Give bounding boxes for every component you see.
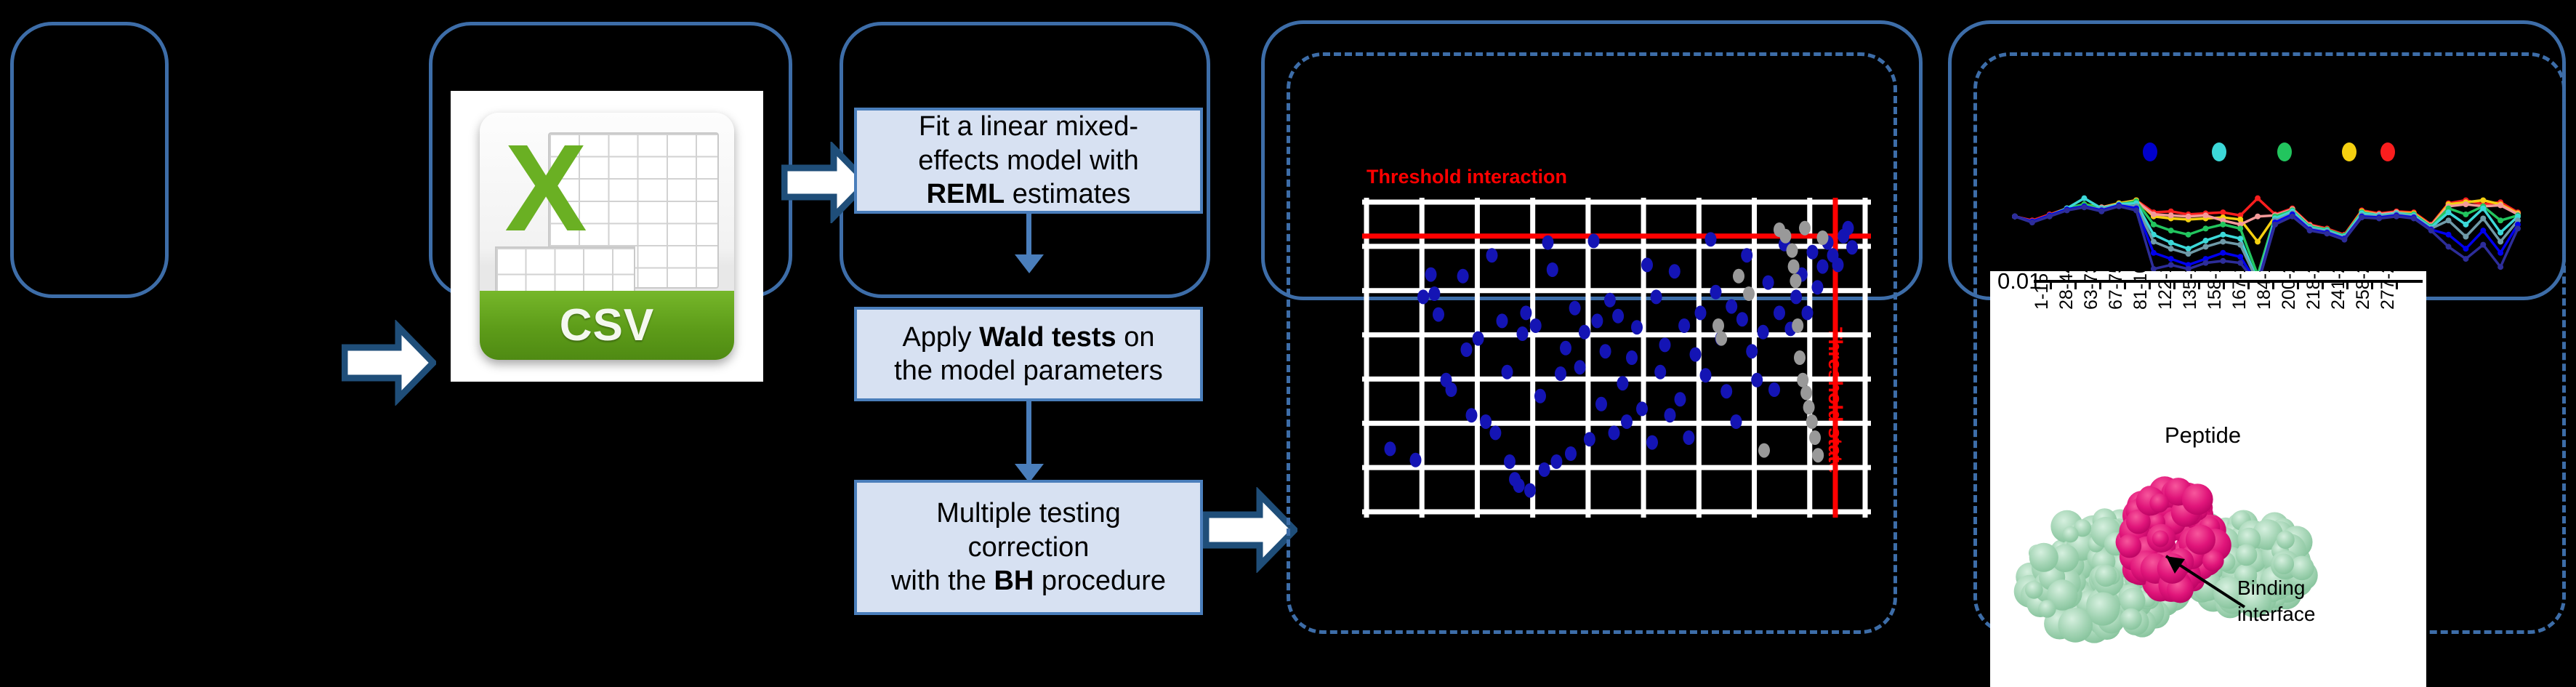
scatter-dot	[1797, 373, 1808, 387]
results-figure-card: 0.01 1-1528-4463-7367-7581-101122-129135…	[1990, 271, 2426, 687]
step-box-wald[interactable]: Apply Wald tests onthe model parameters	[854, 307, 1203, 401]
scatter-dot	[1774, 305, 1785, 320]
scatter-dot	[1621, 414, 1633, 429]
scatter-dot	[1547, 262, 1558, 277]
scatter-dot	[1669, 264, 1681, 278]
connector-arrowhead-1	[1015, 254, 1044, 273]
line-point	[2446, 217, 2452, 223]
x-tick-mark	[2198, 280, 2200, 289]
scatter-dot	[1385, 441, 1396, 456]
line-point	[2186, 246, 2191, 252]
scatter-dot	[1433, 308, 1444, 322]
scatter-dot	[1812, 448, 1824, 462]
line-point	[2168, 228, 2174, 233]
scatter-dot	[1678, 318, 1690, 333]
scatter-dot	[1809, 430, 1821, 445]
scatter-dot	[1461, 342, 1473, 357]
line-point	[2116, 204, 2122, 209]
surface-blob	[2062, 526, 2078, 542]
line-point	[2220, 238, 2226, 244]
scatter-dot	[1631, 320, 1643, 334]
scatter-dot	[1489, 425, 1501, 440]
x-tick-label: 258-266	[2353, 271, 2374, 310]
step-bh-text: Multiple testingcorrectionwith the BH pr…	[891, 497, 1166, 598]
scatter-dot	[1787, 244, 1798, 258]
line-point	[2168, 262, 2174, 268]
scatter-dot	[1446, 382, 1457, 397]
x-tick-label: 135-144	[2180, 271, 2201, 310]
csv-band-label: CSV	[560, 300, 654, 351]
scatter-dot	[1550, 454, 1562, 469]
line-point	[2202, 260, 2208, 266]
line-point	[2359, 214, 2364, 220]
scatter-dot	[1803, 400, 1815, 414]
scatter-dot	[1758, 325, 1769, 340]
scatter-dot	[1560, 341, 1571, 355]
scatter-dot	[1520, 305, 1531, 320]
surface-blob	[2274, 553, 2294, 574]
scatter-dot	[1604, 293, 1616, 308]
line-point	[2186, 251, 2191, 257]
scatter-dot	[1524, 483, 1536, 498]
legend-dot-0	[2143, 142, 2157, 161]
line-point	[2133, 207, 2139, 213]
line-point	[2428, 228, 2434, 233]
scatter-dot	[1565, 446, 1577, 461]
x-tick-mark	[2247, 280, 2250, 289]
x-tick-mark	[2272, 280, 2274, 289]
input-panel	[10, 22, 169, 298]
scatter-dot	[1720, 384, 1732, 398]
connector-line-1	[1026, 214, 1031, 256]
line-point	[2463, 212, 2468, 217]
scatter-dot	[1768, 382, 1780, 397]
line-point	[2480, 215, 2486, 221]
scatter-dot	[1517, 326, 1529, 341]
legend-dot-1	[2212, 142, 2226, 161]
line-point	[2463, 201, 2468, 207]
legend-dot-3	[2342, 142, 2356, 161]
line-point	[2220, 232, 2226, 238]
scatter-dot	[1502, 365, 1513, 379]
scatter-dot	[1457, 269, 1469, 284]
line-point	[2272, 222, 2278, 228]
scatter-dot	[1743, 286, 1755, 301]
line-point	[2237, 217, 2243, 222]
scatter-dot	[1600, 344, 1611, 358]
x-tick-label: 81-101	[2130, 271, 2152, 310]
scatter-dot	[1736, 312, 1748, 326]
line-point	[2325, 230, 2330, 236]
line-point	[2480, 197, 2486, 203]
line-point	[2307, 228, 2313, 233]
scatter-dot	[1659, 337, 1671, 352]
scatter-dot	[1417, 289, 1429, 304]
line-point	[2515, 225, 2521, 231]
scatter-dot	[1574, 360, 1586, 374]
line-point	[2237, 242, 2243, 248]
scatter-dot	[1626, 350, 1638, 365]
scatter-dot	[1683, 430, 1694, 445]
scatter-dot	[1807, 245, 1819, 260]
scatter-dot	[1497, 313, 1508, 328]
csv-file-icon: X CSV	[451, 91, 763, 382]
scatter-threshold-interaction-label: Threshold interaction	[1367, 166, 1567, 188]
x-tick-mark	[2346, 280, 2348, 289]
scatter-dot	[1733, 269, 1744, 284]
scatter-dot	[1726, 300, 1737, 314]
line-point	[2151, 238, 2157, 244]
line-point	[2255, 238, 2261, 244]
scatter-dot	[1591, 313, 1603, 328]
scatter-dot	[1486, 248, 1498, 262]
surface-blob	[2120, 608, 2142, 630]
surface-blob	[2277, 531, 2295, 549]
scatter-dot	[1425, 268, 1437, 282]
step-box-model[interactable]: Fit a linear mixed-effects model with RE…	[854, 108, 1203, 214]
line-point	[2168, 256, 2174, 262]
x-tick-mark	[2396, 280, 2398, 289]
line-point	[2463, 256, 2468, 262]
x-tick-label: 1-15	[2032, 273, 2053, 310]
scatter-dot	[1466, 408, 1478, 422]
line-point	[2081, 196, 2087, 201]
line-point	[2202, 244, 2208, 249]
scatter-dot	[1779, 229, 1791, 244]
step-box-bh[interactable]: Multiple testingcorrectionwith the BH pr…	[854, 480, 1203, 615]
scatter-dot	[1641, 257, 1653, 272]
scatter-dot	[1741, 248, 1752, 262]
scatter-dot	[1651, 289, 1662, 304]
csv-band: CSV	[480, 291, 734, 360]
line-point	[2220, 250, 2226, 256]
line-point	[2497, 230, 2503, 236]
line-point	[2480, 228, 2486, 233]
scatter-dot	[1746, 344, 1758, 358]
x-tick-mark	[2124, 280, 2126, 289]
x-axis-title: Peptide	[2165, 422, 2241, 449]
scatter-dot	[1705, 232, 1717, 246]
binding-interface-label-line1: Binding	[2237, 576, 2305, 600]
scatter-dot	[1569, 301, 1581, 316]
scatter-dot	[1712, 318, 1724, 333]
x-tick-label: 158-166	[2205, 271, 2226, 310]
line-point	[2497, 264, 2503, 270]
x-tick-label: 241-257	[2328, 271, 2349, 310]
line-point	[2255, 196, 2261, 201]
scatter-dot	[1715, 332, 1727, 346]
scatter-dot	[1695, 305, 1707, 320]
scatter-dot	[1846, 240, 1858, 254]
x-tick-label: 218-237	[2303, 271, 2325, 310]
protein-structure-image	[2005, 453, 2346, 671]
line-point	[2220, 222, 2226, 228]
line-point	[2237, 254, 2243, 260]
line-point	[2497, 250, 2503, 256]
scatter-dot	[1817, 230, 1829, 245]
scatter-dot	[1579, 325, 1590, 340]
surface-blob	[2182, 483, 2213, 515]
scatter-dot	[1534, 389, 1546, 403]
scatter-dot	[1790, 289, 1802, 304]
line-point	[2290, 214, 2295, 220]
scatter-dot	[1530, 318, 1542, 333]
line-point	[2394, 214, 2399, 220]
scatter-dot	[1595, 397, 1607, 411]
scatter-dot	[1588, 233, 1600, 248]
line-point	[2186, 232, 2191, 238]
scatter-dot	[1800, 385, 1812, 400]
scatter-dot	[1617, 376, 1628, 390]
step-wald-text: Apply Wald tests onthe model parameters	[894, 321, 1163, 388]
line-point	[2463, 234, 2468, 240]
line-point	[2220, 209, 2226, 215]
line-point	[2255, 214, 2261, 220]
line-point	[2480, 206, 2486, 212]
scatter-dot	[1700, 368, 1712, 382]
line-point	[2237, 236, 2243, 241]
scatter-dot	[1710, 285, 1722, 300]
scatter-dot	[1790, 273, 1801, 288]
line-point	[2341, 237, 2347, 243]
line-point	[2098, 209, 2104, 214]
line-point	[2202, 212, 2208, 218]
scatter-dot	[1646, 435, 1658, 450]
connector-line-2	[1026, 401, 1031, 465]
x-tick-label: 184-199	[2254, 271, 2275, 310]
line-point	[2497, 238, 2503, 244]
line-point	[2186, 214, 2191, 220]
scatter-dot	[1539, 462, 1550, 477]
x-tick-label: 277-284	[2378, 271, 2399, 310]
scatter-dot	[1665, 408, 1676, 422]
scatter-dot	[1636, 401, 1648, 416]
line-point	[2497, 217, 2503, 223]
scatter-dot	[1690, 347, 1702, 362]
x-tick-label: 28-44	[2056, 271, 2077, 310]
x-tick-mark	[2371, 280, 2373, 289]
line-point	[2446, 232, 2452, 238]
line-point	[2168, 240, 2174, 246]
surface-blob	[2058, 608, 2093, 643]
scatter-dot	[1763, 276, 1774, 290]
line-point	[2151, 250, 2157, 256]
line-point	[2012, 214, 2018, 220]
x-tick-label: 122-129	[2155, 271, 2176, 310]
scatter-dot	[1812, 280, 1824, 294]
surface-blob	[2025, 581, 2043, 599]
scatter-dot	[1675, 392, 1686, 406]
scatter-dot	[1794, 350, 1806, 365]
x-tick-mark	[2223, 280, 2225, 289]
surface-blob	[2236, 545, 2258, 566]
x-tick-label: 200-214	[2279, 271, 2300, 310]
surface-blob	[2152, 531, 2169, 547]
scatter-points	[1385, 221, 1859, 498]
x-tick-mark	[2050, 280, 2052, 289]
x-tick-mark	[2149, 280, 2151, 289]
line-point	[2446, 244, 2452, 249]
legend-dot-2	[2277, 142, 2292, 161]
scatter-dot	[1542, 236, 1554, 250]
scatter-dot	[1758, 443, 1770, 458]
line-point	[2237, 225, 2243, 231]
scatter-dot	[1731, 414, 1742, 429]
scatter-dot	[1410, 453, 1422, 467]
scatter-dot	[1428, 286, 1440, 301]
step-model-text: Fit a linear mixed-effects model with RE…	[918, 110, 1138, 211]
surface-blob	[2029, 543, 2058, 572]
scatter-dot	[1504, 454, 1516, 469]
line-point	[2463, 222, 2468, 228]
line-point	[2029, 220, 2035, 225]
surface-blob	[2149, 494, 2168, 513]
scatter-dot	[1799, 221, 1811, 236]
csv-x-letter: X	[493, 120, 600, 256]
line-point	[2463, 246, 2468, 252]
scatter-dot	[1802, 305, 1814, 320]
line-point	[2220, 258, 2226, 264]
scatter-dot	[1817, 260, 1829, 274]
surface-blob	[2186, 525, 2215, 555]
x-tick-mark	[2322, 280, 2324, 289]
surface-blob	[2038, 600, 2056, 617]
scatter-dot	[1609, 425, 1620, 440]
line-point	[2151, 212, 2157, 217]
x-tick-label: 67-75	[2106, 271, 2127, 310]
scatter-plot	[1362, 198, 1871, 518]
line-point	[2168, 212, 2174, 218]
surface-blob	[2117, 534, 2141, 558]
line-point	[2446, 209, 2452, 215]
x-tick-label: 63-73	[2081, 271, 2102, 310]
line-point	[2151, 222, 2157, 228]
line-point	[2202, 225, 2208, 231]
line-point	[2202, 238, 2208, 244]
x-tick-mark	[2074, 280, 2077, 289]
line-point	[2411, 215, 2417, 221]
arrow-into-input	[342, 320, 436, 406]
scatter-dot	[1555, 366, 1566, 381]
surface-blob	[2095, 565, 2117, 587]
line-point	[2480, 242, 2486, 248]
scatter-dot	[1792, 318, 1803, 333]
x-tick-mark	[2297, 280, 2299, 289]
scatter-dot	[1473, 332, 1484, 346]
scatter-dot	[1654, 365, 1666, 379]
line-point	[2237, 260, 2243, 266]
arrow-analysis-to-scatter	[1203, 487, 1297, 573]
x-tick-mark	[2173, 280, 2175, 289]
scatter-dot	[1788, 260, 1800, 274]
line-point	[2081, 204, 2087, 210]
line-point	[2047, 214, 2053, 220]
scatter-dot	[1843, 221, 1854, 236]
scatter-dot	[1832, 257, 1844, 272]
scatter-dot	[1513, 478, 1525, 493]
line-point	[2376, 215, 2382, 221]
x-tick-mark	[2099, 280, 2101, 289]
legend-dot-4	[2380, 142, 2395, 161]
scatter-dot	[1584, 432, 1595, 446]
line-point	[2168, 246, 2174, 252]
scatter-dot	[1612, 309, 1624, 324]
binding-interface-label-line2: interface	[2237, 603, 2315, 626]
line-point	[2497, 202, 2503, 208]
scatter-dot	[1751, 373, 1763, 387]
scatter-dot	[1480, 414, 1492, 429]
scatter-dot	[1806, 414, 1818, 429]
line-point	[2064, 207, 2070, 213]
x-tick-label: 167-180	[2229, 271, 2250, 310]
